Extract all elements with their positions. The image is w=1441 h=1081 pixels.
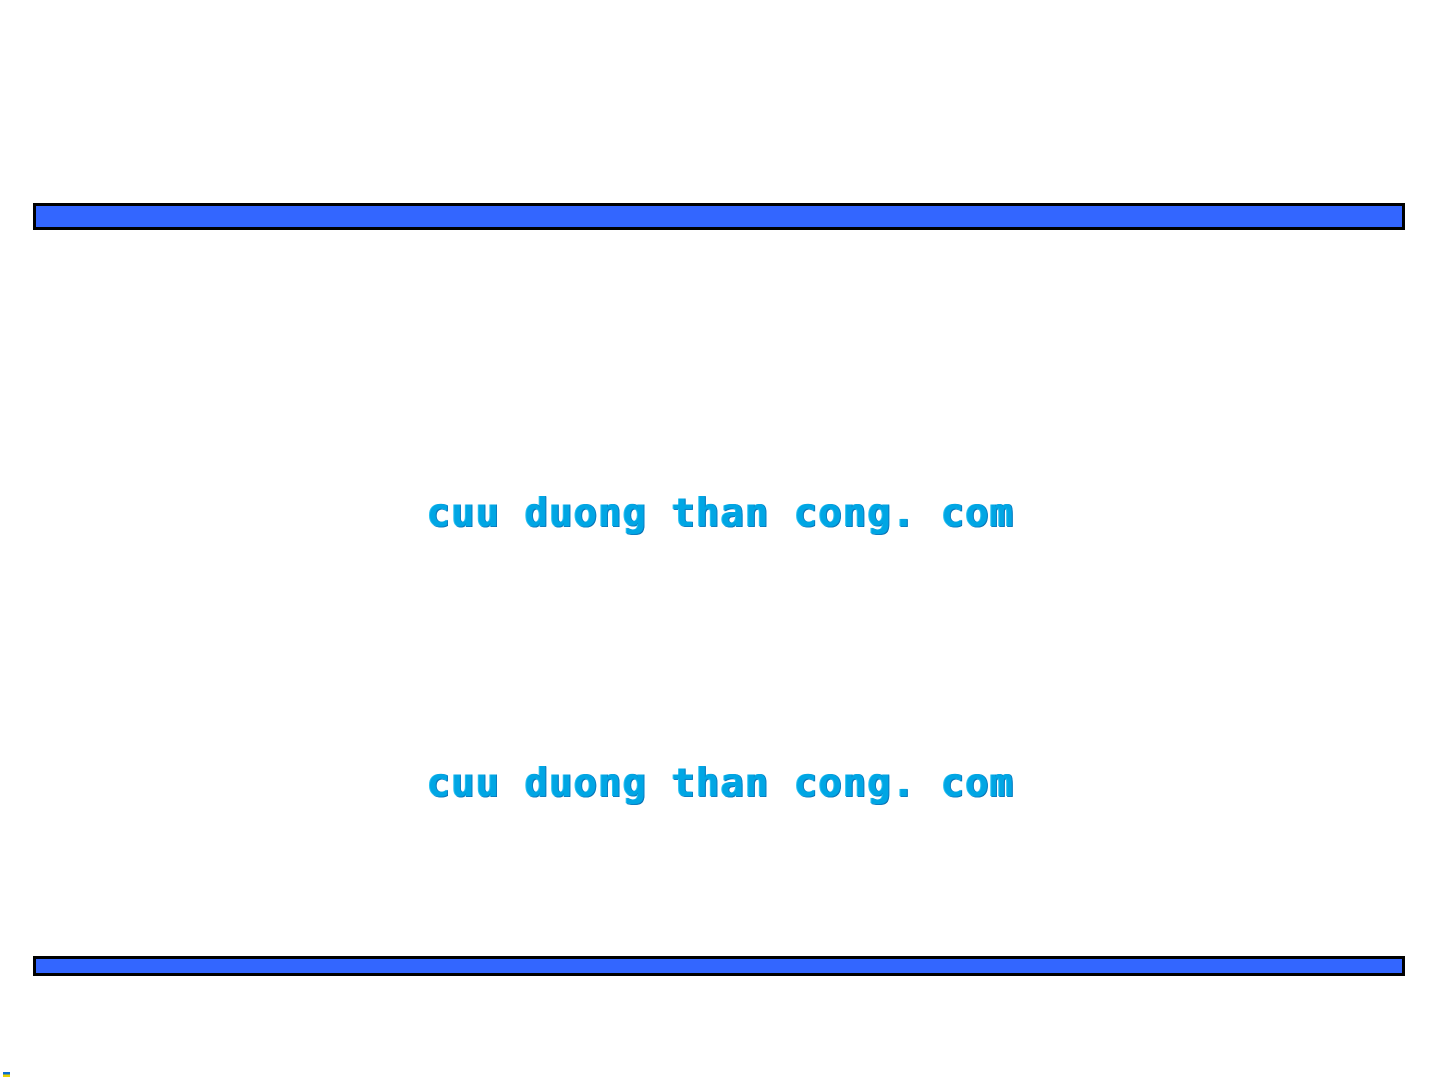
page-canvas: cuu duong than cong. com cuu duong than …: [0, 0, 1441, 1081]
watermark-text-bottom: cuu duong than cong. com: [0, 764, 1441, 803]
top-divider-bar: [33, 203, 1405, 230]
watermark-text-top: cuu duong than cong. com: [0, 494, 1441, 533]
bottom-divider-bar: [33, 956, 1405, 976]
corner-artifact-mark: [3, 1072, 10, 1077]
